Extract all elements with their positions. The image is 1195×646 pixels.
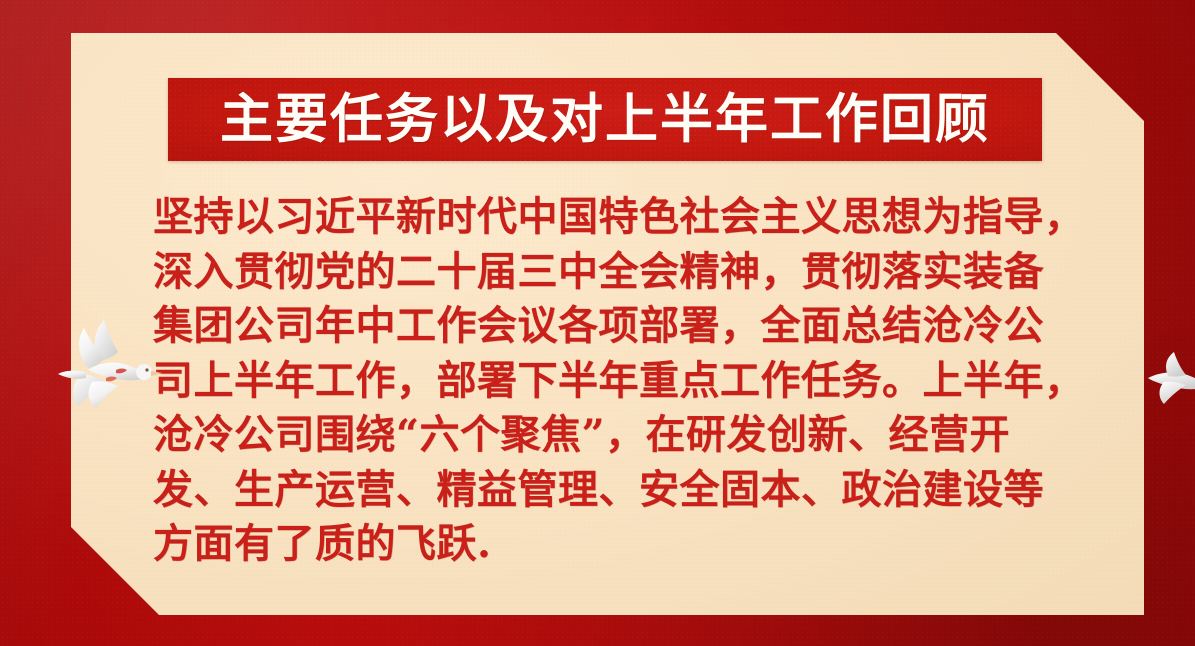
body-line: 司上半年工作，部署下半年重点工作任务。上半年，	[153, 354, 1061, 409]
body-line-text: 司上半年工作，部署下半年重点工作任务。上半年，	[153, 354, 1085, 409]
body-line-text: 集团公司年中工作会议各项部署，全面总结沧冷公	[153, 299, 1044, 354]
body-line-text: 方面有了质的飞跃.	[153, 520, 491, 567]
body-line: 发、生产运营、精益管理、安全固本、政治建设等	[153, 463, 1061, 518]
body-paragraph: 坚持以习近平新时代中国特色社会主义思想为指导， 深入贯彻党的二十届三中全会精神，…	[153, 190, 1061, 572]
slide-canvas: 主要任务以及对上半年工作回顾 坚持以习近平新时代中国特色社会主义思想为指导， 深…	[0, 0, 1195, 646]
body-line: 集团公司年中工作会议各项部署，全面总结沧冷公	[153, 299, 1061, 354]
body-line: 方面有了质的飞跃.	[153, 517, 1061, 572]
body-line-text: 坚持以习近平新时代中国特色社会主义思想为指导，	[153, 190, 1085, 245]
body-line-text: 深入贯彻党的二十届三中全会精神，贯彻落实装备	[153, 245, 1044, 300]
body-line-text: 发、生产运营、精益管理、安全固本、政治建设等	[153, 463, 1044, 518]
body-line: 深入贯彻党的二十届三中全会精神，贯彻落实装备	[153, 245, 1061, 300]
body-line: 沧冷公司围绕“六个聚焦”，在研发创新、经营开	[153, 408, 1061, 463]
page-title: 主要任务以及对上半年工作回顾	[220, 93, 990, 146]
title-banner: 主要任务以及对上半年工作回顾	[168, 78, 1042, 161]
body-line-text: 沧冷公司围绕“六个聚焦”，在研发创新、经营开	[153, 408, 1010, 463]
body-line: 坚持以习近平新时代中国特色社会主义思想为指导，	[153, 190, 1061, 245]
